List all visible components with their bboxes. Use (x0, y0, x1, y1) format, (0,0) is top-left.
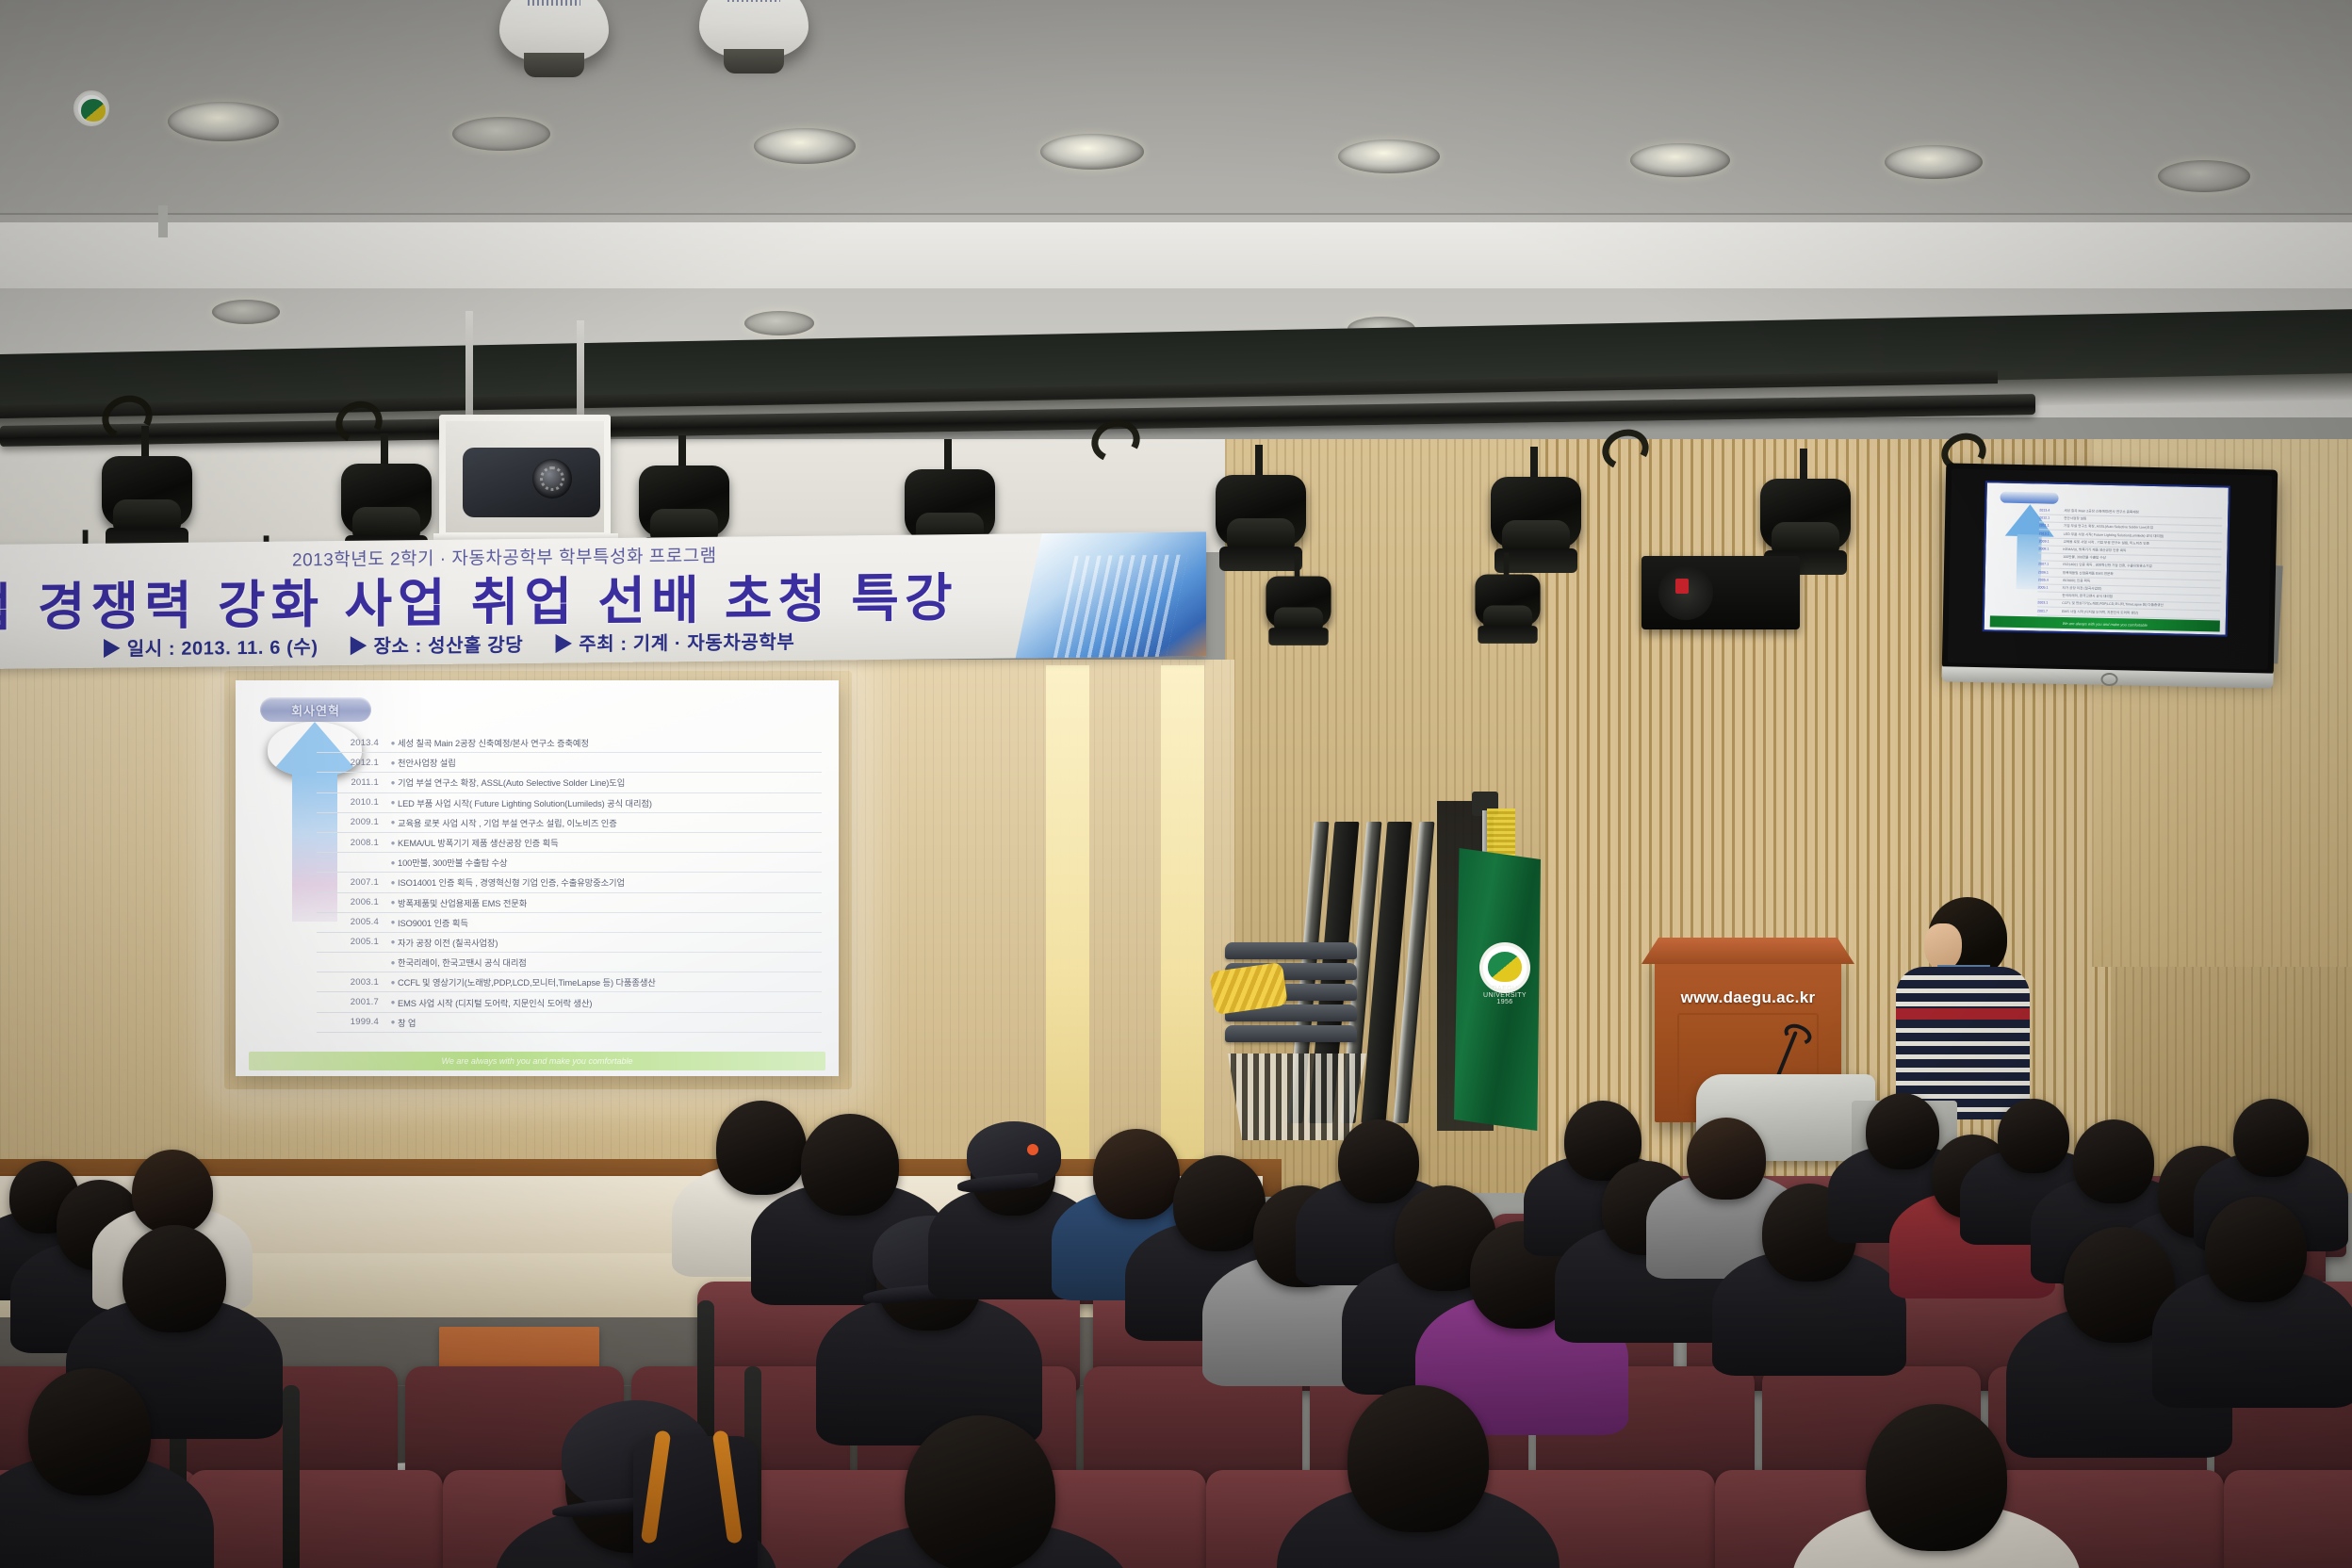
slide-row-text: CCFL 및 영상기기(노래방,PDP,LCD,모니터,TimeLapse 등)… (398, 975, 822, 988)
slide-row-text: 100만불, 300만불 수출탑 수상 (398, 856, 822, 869)
tv-screen: 2013.4세성 칠곡 Main 2공장 신축예정/본사 연구소 증축예정201… (1983, 481, 2230, 636)
audience-head (2205, 1197, 2307, 1302)
slide-timeline-row: 1999.4●창 업 (317, 1013, 822, 1033)
wall-mounted-tv-icon: 2013.4세성 칠곡 Main 2공장 신축예정/본사 연구소 증축예정201… (1942, 463, 2278, 675)
wall-light-panel (1161, 665, 1204, 1174)
projector-hanger (465, 311, 473, 422)
audience-head (122, 1225, 226, 1332)
audience-head (132, 1150, 213, 1233)
projector-hanger (577, 320, 584, 422)
slide-row-bullet-icon: ● (388, 998, 398, 1006)
baseball-cap-icon (967, 1121, 1061, 1187)
banner-date: ▶ 일시 : 2013. 11. 6 (수) (102, 637, 318, 660)
slide-row-bullet-icon: ● (388, 818, 398, 826)
stage-spotlight-icon (1475, 570, 1540, 644)
slide-row-bullet-icon: ● (388, 858, 398, 867)
slide-row-bullet-icon: ● (388, 898, 398, 906)
slide-row-text: ISO14001 인증 획득 , 경영혁신형 기업 인증, 수출유망중소기업 (398, 875, 822, 889)
ceiling-upper (0, 0, 2352, 217)
slide-timeline-row: 2005.4●ISO9001 인증 획득 (317, 913, 822, 933)
chair-legs (1225, 1053, 1366, 1140)
slide-timeline-row: 2007.1●ISO14001 인증 획득 , 경영혁신형 기업 인증, 수출유… (317, 873, 822, 892)
audience-head (1866, 1093, 1939, 1169)
slide-row-year: 2009.1 (317, 817, 388, 827)
recessed-downlight-icon (168, 102, 279, 141)
slide-row-year: 2010.1 (317, 797, 388, 808)
podium-emblem-icon (73, 90, 109, 126)
recessed-downlight-icon (1885, 145, 1983, 179)
slide-row-year: 2006.1 (317, 897, 388, 907)
slide-row-bullet-icon: ● (388, 1018, 398, 1026)
audience-head (801, 1114, 899, 1216)
slide-timeline-row: 2010.1●LED 부품 사업 시작( Future Lighting Sol… (317, 793, 822, 813)
recessed-downlight-icon (744, 311, 814, 335)
seat (188, 1470, 443, 1568)
slide-row-bullet-icon: ● (388, 878, 398, 887)
audience-head (1866, 1404, 2007, 1551)
audience-head (1347, 1385, 1489, 1532)
flag-emblem-text: DAEGU UNIVERSITY 1956 (1476, 986, 1534, 1005)
presenter-person (1896, 897, 2030, 1119)
audience-head (905, 1415, 1055, 1568)
slide-row-bullet-icon: ● (388, 798, 398, 807)
stage-spotlight-icon (1216, 469, 1306, 571)
slide-row-bullet-icon: ● (388, 978, 398, 987)
slide-row-year: 2001.7 (317, 997, 388, 1007)
auditorium-scene: 회사연혁 2013.4●세성 칠곡 Main 2공장 신축예정/본사 연구소 증… (0, 0, 2352, 1568)
slide-row-bullet-icon: ● (388, 778, 398, 787)
slide-row-year: 2005.4 (317, 917, 388, 927)
slide-row-text: LED 부품 사업 시작( Future Lighting Solution(L… (398, 796, 822, 809)
audience-head (716, 1101, 807, 1195)
slide-row-text: 창 업 (398, 1016, 822, 1029)
wall-light-panel (1046, 665, 1089, 1174)
ceiling-speaker-icon (499, 0, 609, 62)
slide-row-year: 2008.1 (317, 838, 388, 848)
slide-row-text: ISO9001 인증 획득 (398, 916, 822, 929)
slide-row-text: 기업 부설 연구소 확장, ASSL(Auto Selective Solder… (398, 776, 822, 789)
slide-row-year: 2005.1 (317, 937, 388, 947)
slide-row-bullet-icon: ● (388, 739, 398, 747)
wall-speaker-icon (1641, 556, 1800, 629)
banner-host: ▶ 주최 : 기계 · 자동차공학부 (553, 632, 794, 656)
recessed-downlight-icon (1040, 134, 1144, 170)
slide-title-badge: 회사연혁 (260, 697, 371, 722)
recessed-downlight-icon (1338, 139, 1440, 173)
audience-head (2073, 1119, 2154, 1203)
slide-timeline-row: 2009.1●교육용 로봇 사업 시작 , 기업 부설 연구소 설립, 이노비즈… (317, 813, 822, 833)
slide-timeline-row: 2013.4●세성 칠곡 Main 2공장 신축예정/본사 연구소 증축예정 (317, 733, 822, 753)
slide-timeline-row: 2003.1●CCFL 및 영상기기(노래방,PDP,LCD,모니터,TimeL… (317, 972, 822, 992)
slide-row-year: 2012.1 (317, 758, 388, 768)
tv-stand (158, 205, 168, 237)
slide-row-text: 세성 칠곡 Main 2공장 신축예정/본사 연구소 증축예정 (398, 736, 822, 749)
slide-row-bullet-icon: ● (388, 759, 398, 767)
projection-screen: 회사연혁 2013.4●세성 칠곡 Main 2공장 신축예정/본사 연구소 증… (236, 680, 839, 1076)
audience-head (2233, 1099, 2309, 1177)
slide-row-bullet-icon: ● (388, 938, 398, 946)
slide-row-year: 1999.4 (317, 1017, 388, 1027)
slide-timeline-row: 2011.1●기업 부설 연구소 확장, ASSL(Auto Selective… (317, 773, 822, 792)
recessed-downlight-icon (212, 300, 280, 324)
slide-row-text: 한국리레이, 한국고땐시 공식 대리점 (398, 955, 822, 969)
banner-decoration (1009, 531, 1206, 669)
slide-row-year: 2003.1 (317, 977, 388, 988)
backpack (633, 1436, 758, 1568)
audience-head (1093, 1129, 1180, 1219)
ceiling-projector-icon (439, 415, 611, 539)
stage-spotlight-icon (1266, 572, 1331, 645)
slide-row-year: 2007.1 (317, 877, 388, 888)
slide-timeline-row: 2006.1●방폭제품및 산업용제품 EMS 전문화 (317, 893, 822, 913)
slide-row-bullet-icon: ● (388, 918, 398, 926)
slide-row-text: EMS 사업 시작 (디지털 도어락, 지문인식 도어락 생산) (398, 996, 822, 1009)
slide-footer-bar: We are always with you and make you comf… (249, 1052, 825, 1070)
audience-head (1998, 1099, 2069, 1173)
seat (2224, 1470, 2352, 1568)
slide-row-year: 2013.4 (317, 738, 388, 748)
event-banner: 2013학년도 2학기 · 자동차공학부 학부특성화 프로그램 업 경쟁력 강화… (0, 531, 1206, 669)
slide-row-bullet-icon: ● (388, 958, 398, 967)
stage-spotlight-icon (102, 450, 192, 552)
ceiling-speaker-icon (699, 0, 808, 58)
slide-row-year: 2011.1 (317, 777, 388, 788)
slide-timeline-row: ●100만불, 300만불 수출탑 수상 (317, 853, 822, 873)
banner-place: ▶ 장소 : 성산홀 강당 (349, 635, 524, 658)
slide-row-text: 방폭제품및 산업용제품 EMS 전문화 (398, 896, 822, 909)
podium-url-text: www.daegu.ac.kr (1655, 988, 1841, 1007)
seat-armrest (283, 1385, 300, 1568)
audience-head (1173, 1155, 1266, 1251)
slide-row-text: KEMA/UL 방폭기기 제품 생산공장 인증 획득 (398, 836, 822, 849)
slide-timeline-row: 2001.7●EMS 사업 시작 (디지털 도어락, 지문인식 도어락 생산) (317, 992, 822, 1012)
slide-timeline-row: ●한국리레이, 한국고땐시 공식 대리점 (317, 953, 822, 972)
slide-row-text: 자가 공장 이전 (칠곡사업장) (398, 936, 822, 949)
slide-timeline-row: 2005.1●자가 공장 이전 (칠곡사업장) (317, 933, 822, 953)
ceiling-soffit (0, 222, 2352, 288)
recessed-downlight-icon (2158, 160, 2250, 192)
recessed-downlight-icon (1630, 143, 1730, 177)
slide-row-bullet-icon: ● (388, 839, 398, 847)
slide-timeline-row: 2012.1●천안사업장 설립 (317, 753, 822, 773)
slide-row-text: 교육용 로봇 사업 시작 , 기업 부설 연구소 설립, 이노비즈 인증 (398, 816, 822, 829)
recessed-downlight-icon (754, 128, 856, 164)
recessed-downlight-icon (452, 117, 550, 151)
audience-head (1338, 1119, 1419, 1203)
slide-timeline-rows: 2013.4●세성 칠곡 Main 2공장 신축예정/본사 연구소 증축예정20… (317, 733, 822, 1037)
slide-row-text: 천안사업장 설립 (398, 756, 822, 769)
audience-head (28, 1368, 151, 1495)
slide-timeline-row: 2008.1●KEMA/UL 방폭기기 제품 생산공장 인증 획득 (317, 833, 822, 853)
audience-head (1687, 1118, 1766, 1200)
